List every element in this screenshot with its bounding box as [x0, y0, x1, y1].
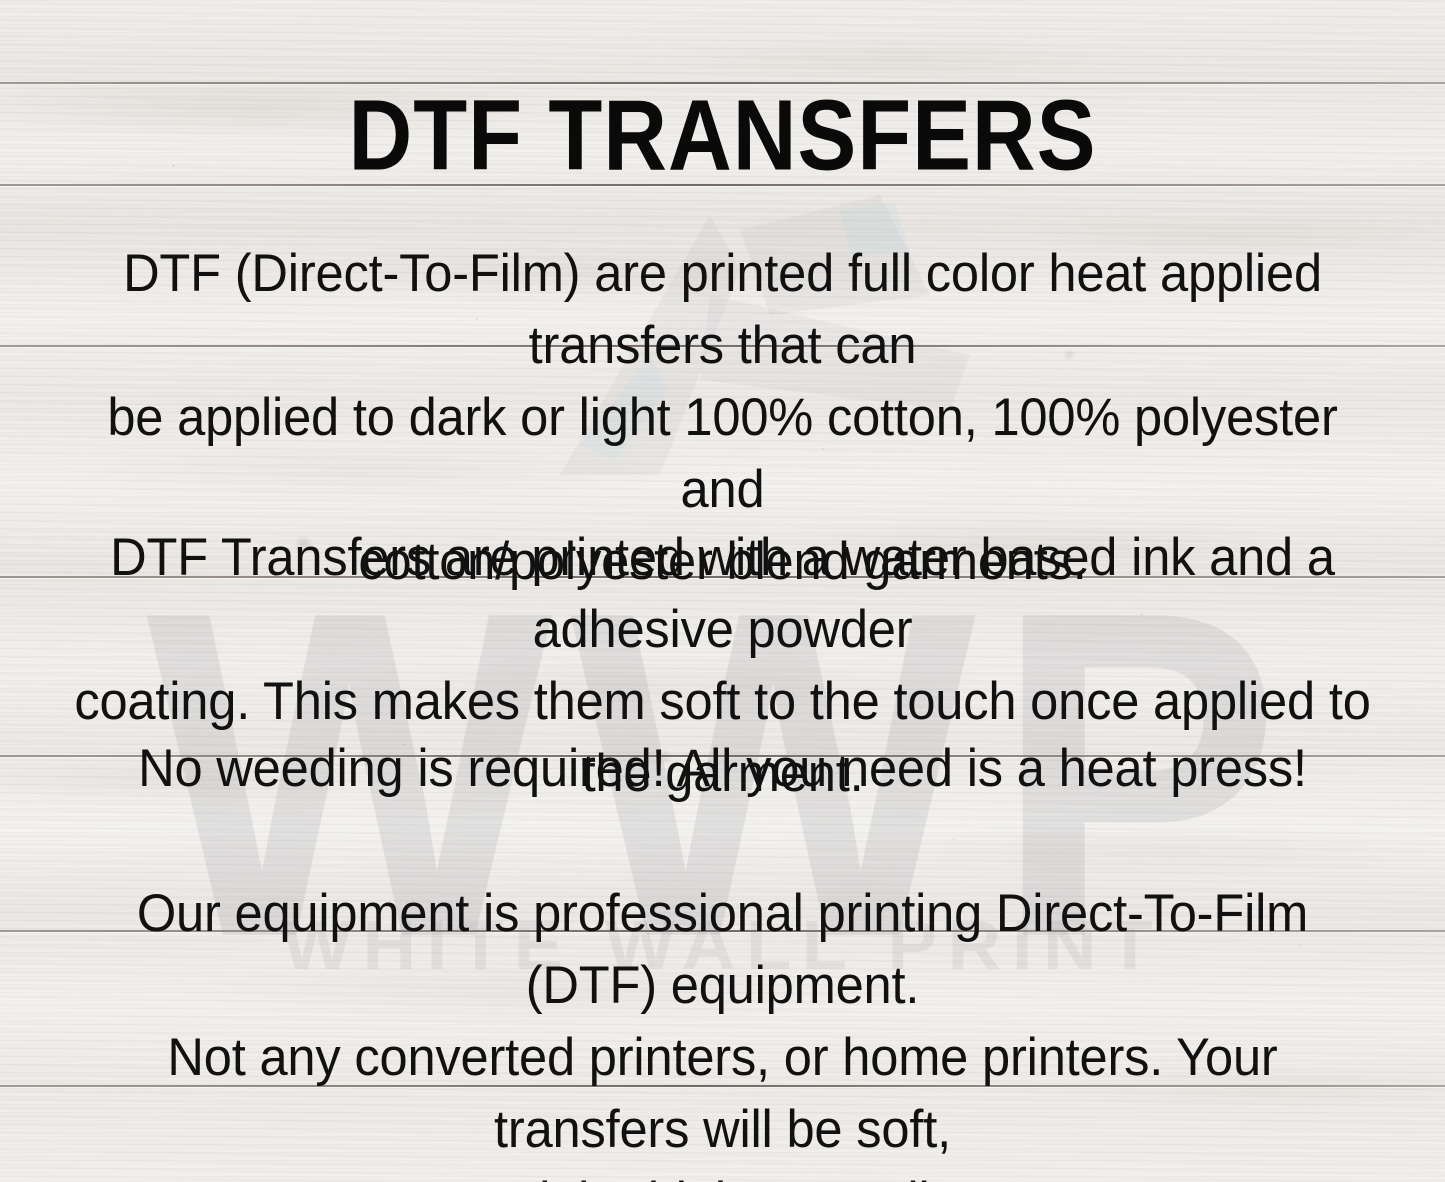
- body-line: and the highest quality.: [71, 1166, 1375, 1182]
- page-title: DTF TRANSFERS: [58, 86, 1387, 186]
- body-line: DTF Transfers are printed with a water b…: [71, 522, 1375, 666]
- body-line: No weeding is required! All you need is …: [71, 733, 1375, 805]
- paragraph-equipment: Our equipment is professional printing D…: [71, 878, 1375, 1182]
- body-line: Our equipment is professional printing D…: [71, 878, 1375, 1022]
- body-line: DTF (Direct-To-Film) are printed full co…: [71, 238, 1375, 382]
- poster-canvas: WWP WHITE WALL PRINT DTF TRANSFERS DTF (…: [0, 0, 1445, 1182]
- paragraph-no-weeding: No weeding is required! All you need is …: [71, 733, 1375, 805]
- body-line: be applied to dark or light 100% cotton,…: [71, 382, 1375, 526]
- body-line: Not any converted printers, or home prin…: [71, 1022, 1375, 1166]
- poster-content: DTF TRANSFERS DTF (Direct-To-Film) are p…: [0, 0, 1445, 1182]
